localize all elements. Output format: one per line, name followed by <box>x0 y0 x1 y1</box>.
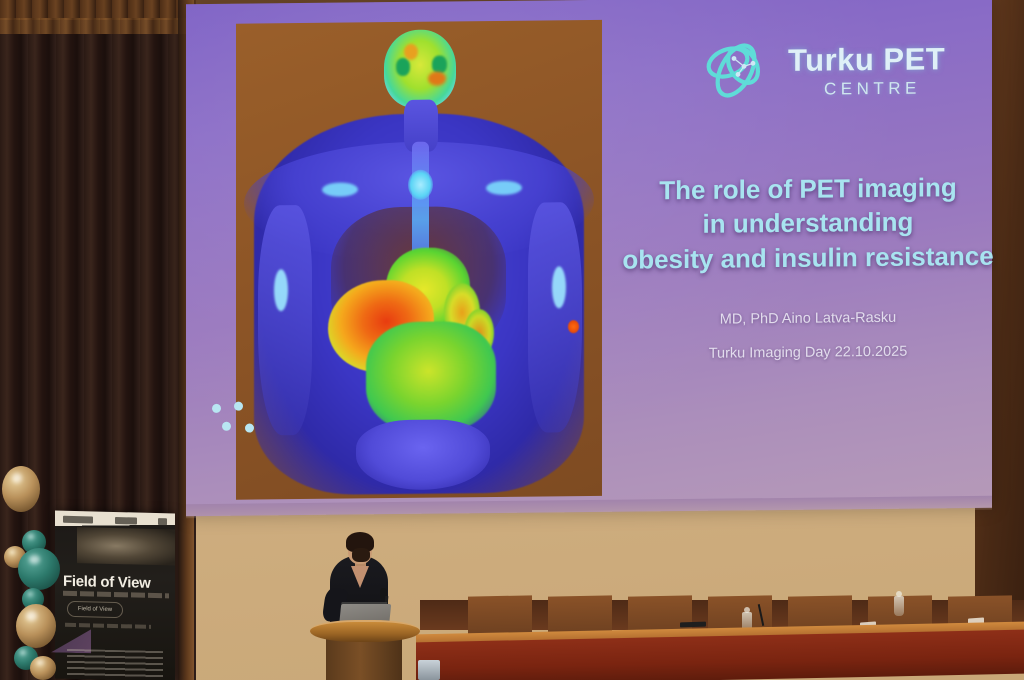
curtain-band <box>0 18 196 34</box>
banner-logo-tertiary <box>158 518 167 525</box>
curtain-top-rail <box>0 0 196 20</box>
lecture-hall-scene: Turku PET CENTRE The role of PET imaging… <box>0 0 1024 680</box>
slide-title-line-1: The role of PET imaging <box>618 170 998 208</box>
pet-scan-canvas <box>236 20 602 500</box>
logo-subtitle: CENTRE <box>824 79 945 97</box>
logo-text-block: Turku PET CENTRE <box>788 43 945 98</box>
banner-photo <box>77 527 175 565</box>
slide-dot <box>222 422 231 431</box>
slide-title-line-2: in understanding <box>618 204 998 242</box>
pet-vertebra-highlight <box>408 170 433 200</box>
logo-title: Turku PET <box>788 43 945 76</box>
slide-dot <box>234 402 243 411</box>
banner-body-text <box>67 649 163 679</box>
banner-meta-line <box>65 623 151 629</box>
slide-dot <box>212 404 221 413</box>
slide-dot <box>245 424 254 433</box>
turku-pet-centre-logo: Turku PET CENTRE <box>698 26 958 115</box>
speaker-hair-bun <box>352 548 370 562</box>
pet-brain-ventricle-left <box>396 58 410 76</box>
podium-surface <box>310 620 420 642</box>
slide-title: The role of PET imaging in understanding… <box>618 170 998 277</box>
pet-arm-left <box>258 205 312 436</box>
banner-logo-university-turku <box>63 515 93 523</box>
balloon-teal <box>18 548 60 590</box>
projection-screen: Turku PET CENTRE The role of PET imaging… <box>186 0 992 516</box>
pet-scan-image <box>236 20 602 500</box>
atom-orbital-icon <box>698 32 776 111</box>
banner-title: Field of View <box>63 573 173 593</box>
balloon-gold <box>16 604 56 648</box>
slide-subtitle: MD, PhD Aino Latva-Rasku Turku Imaging D… <box>638 300 978 372</box>
balloon-gold <box>30 656 56 680</box>
balloon-gold <box>2 466 40 512</box>
pet-bowel-uptake <box>366 321 496 432</box>
desk-laptop <box>680 622 706 628</box>
pet-brain-hotspot-1 <box>404 44 418 60</box>
pet-arm-right <box>528 202 582 433</box>
desk-side-object <box>418 660 440 680</box>
field-of-view-banner: Field of View Field of View <box>55 511 175 680</box>
pet-focal-hotspot <box>568 320 579 333</box>
pet-humerus-left <box>274 269 288 311</box>
water-glass <box>894 596 904 616</box>
chair <box>468 595 532 636</box>
slide-event-date: Turku Imaging Day 22.10.2025 <box>638 334 978 372</box>
pet-humerus-right <box>552 266 566 308</box>
banner-badge: Field of View <box>67 601 123 618</box>
banner-logo-row <box>59 514 171 527</box>
slide-decorative-dots <box>212 401 260 436</box>
slide-presenter-name: MD, PhD Aino Latva-Rasku <box>638 300 978 338</box>
slide-title-line-3: obesity and insulin resistance <box>618 238 998 276</box>
banner-logo-secondary <box>115 516 137 524</box>
